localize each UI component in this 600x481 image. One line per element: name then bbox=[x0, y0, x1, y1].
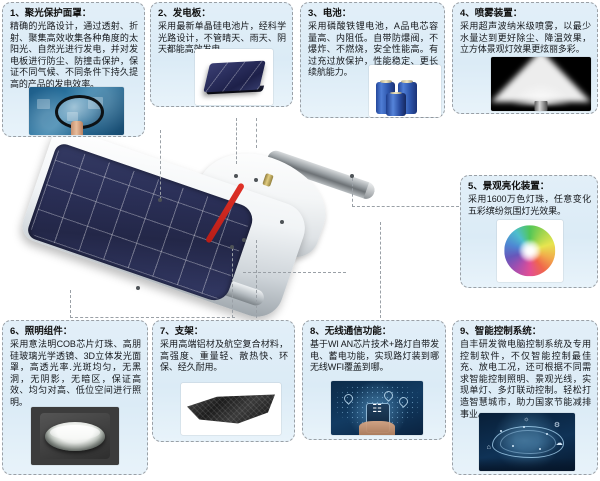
leader-line-5 bbox=[352, 206, 464, 207]
leader-line-8 bbox=[256, 240, 257, 318]
leader-line-5b bbox=[352, 178, 353, 207]
solar-street-lamp-illustration bbox=[0, 135, 420, 310]
panel-4-body: 采用超声波纳米级喷雾，以最少水量达到更好除尘、降温效果，立方体景观灯效果更炫丽多… bbox=[460, 21, 591, 56]
wifi-icon: ☷ bbox=[372, 404, 382, 415]
cloud-icon: ☁ bbox=[556, 440, 563, 447]
callout-dot-8 bbox=[242, 238, 246, 242]
smart-brain-network-icon: ⌂ ☼ ☁ ⚙ bbox=[479, 413, 575, 471]
feature-panel-2[interactable]: 2、发电板： 采用最新单晶硅电池片，经科学光路设计，不管晴天、雨天、阴天都能高效… bbox=[150, 2, 293, 107]
cob-lens-module-icon bbox=[31, 407, 119, 465]
callout-dot-3 bbox=[254, 178, 258, 182]
panel-2-title: 2、发电板： bbox=[158, 8, 286, 20]
feature-panel-1[interactable]: 1、聚光保护面罩： 精确的光路设计，通过透射、折射、聚集高效收集各种角度的太阳光… bbox=[2, 2, 145, 137]
wifi-world-map-icon: ☷ bbox=[331, 381, 423, 435]
feature-panel-3[interactable]: 3、电池： 采用磷酸铁锂电池，A品电芯容量高、内阻低。自带防爆阀，不爆炸、不燃烧… bbox=[300, 2, 445, 118]
panel-7-title: 7、支架： bbox=[160, 326, 288, 338]
solar-cell-icon bbox=[195, 49, 273, 105]
feature-panel-6[interactable]: 6、照明组件： 采用意法明COB芯片灯珠、高朋硅玻璃光学透镜、3D立体发光面罩，… bbox=[2, 320, 148, 475]
leader-line-7 bbox=[232, 248, 233, 318]
panel-6-body: 采用意法明COB芯片灯珠、高朋硅玻璃光学透镜、3D立体发光面罩，高透光率.光斑均… bbox=[10, 339, 141, 409]
panel-1-body: 精确的光路设计，通过透射、折射、聚集高效收集各种角度的太阳光、自然光进行发电，并… bbox=[10, 21, 138, 91]
leader-line-9 bbox=[380, 222, 381, 318]
leader-line-2 bbox=[236, 118, 237, 164]
feature-panel-8[interactable]: 8、无线通信功能： 基于WI AN芯片技术+路灯自带发电、蓄电功能，实现路灯装到… bbox=[302, 320, 446, 440]
rgb-color-wheel-icon bbox=[497, 220, 563, 282]
panel-7-body: 采用高端铝材及航空复合材料，高强度、重量轻、散热快、环保、经久耐用。 bbox=[160, 339, 288, 374]
callout-dot-6 bbox=[136, 286, 140, 290]
callout-dot-1 bbox=[158, 198, 162, 202]
leader-line-6 bbox=[70, 290, 71, 318]
feature-panel-4[interactable]: 4、喷雾装置： 采用超声波纳米级喷雾，以最少水量达到更好除尘、降温效果，立方体景… bbox=[452, 2, 598, 114]
panel-8-body: 基于WI AN芯片技术+路灯自带发电、蓄电功能，实现路灯装到哪无线WFI覆盖到哪… bbox=[310, 339, 439, 374]
lithium-battery-icon bbox=[369, 65, 441, 117]
panel-5-title: 5、景观亮化装置： bbox=[468, 181, 591, 193]
feature-panel-7[interactable]: 7、支架： 采用高端铝材及航空复合材料，高强度、重量轻、散热快、环保、经久耐用。 bbox=[152, 320, 295, 442]
bulb-icon: ☼ bbox=[523, 416, 529, 423]
feature-panel-9[interactable]: 9、智能控制系统： 自丰研发微电脑控制系统及专用控制软件，不仅智能控制最佳充、放… bbox=[452, 320, 598, 475]
magnifier-tech-icon bbox=[29, 87, 124, 135]
infographic-canvas: 1、聚光保护面罩： 精确的光路设计，通过透射、折射、聚集高效收集各种角度的太阳光… bbox=[0, 0, 600, 481]
leader-line-8b bbox=[243, 272, 346, 273]
callout-dot-9 bbox=[280, 220, 284, 224]
panel-4-title: 4、喷雾装置： bbox=[460, 8, 591, 20]
panel-9-body: 自丰研发微电脑控制系统及专用控制软件，不仅智能控制最佳充、放电工况，还可根据不同… bbox=[460, 339, 591, 420]
carbon-bracket-icon bbox=[181, 383, 281, 435]
panel-5-body: 采用1600万色灯珠，任意变化五彩缤纷氛围灯光效果。 bbox=[468, 194, 591, 217]
leader-line-6b bbox=[70, 317, 235, 318]
feature-panel-5[interactable]: 5、景观亮化装置： 采用1600万色灯珠，任意变化五彩缤纷氛围灯光效果。 bbox=[460, 175, 598, 288]
home-icon: ⌂ bbox=[487, 444, 491, 451]
leader-line-3 bbox=[256, 118, 257, 148]
leader-line-1 bbox=[160, 130, 161, 200]
gear-icon: ⚙ bbox=[554, 422, 560, 429]
callout-dot-5 bbox=[350, 174, 354, 178]
callout-dot-7 bbox=[230, 245, 234, 249]
mist-nozzle-icon bbox=[491, 57, 591, 111]
panel-1-title: 1、聚光保护面罩： bbox=[10, 8, 138, 20]
panel-3-title: 3、电池： bbox=[308, 8, 438, 20]
panel-6-title: 6、照明组件： bbox=[10, 326, 141, 338]
panel-8-title: 8、无线通信功能： bbox=[310, 326, 439, 338]
panel-9-title: 9、智能控制系统： bbox=[460, 326, 591, 338]
callout-dot-2 bbox=[234, 174, 238, 178]
